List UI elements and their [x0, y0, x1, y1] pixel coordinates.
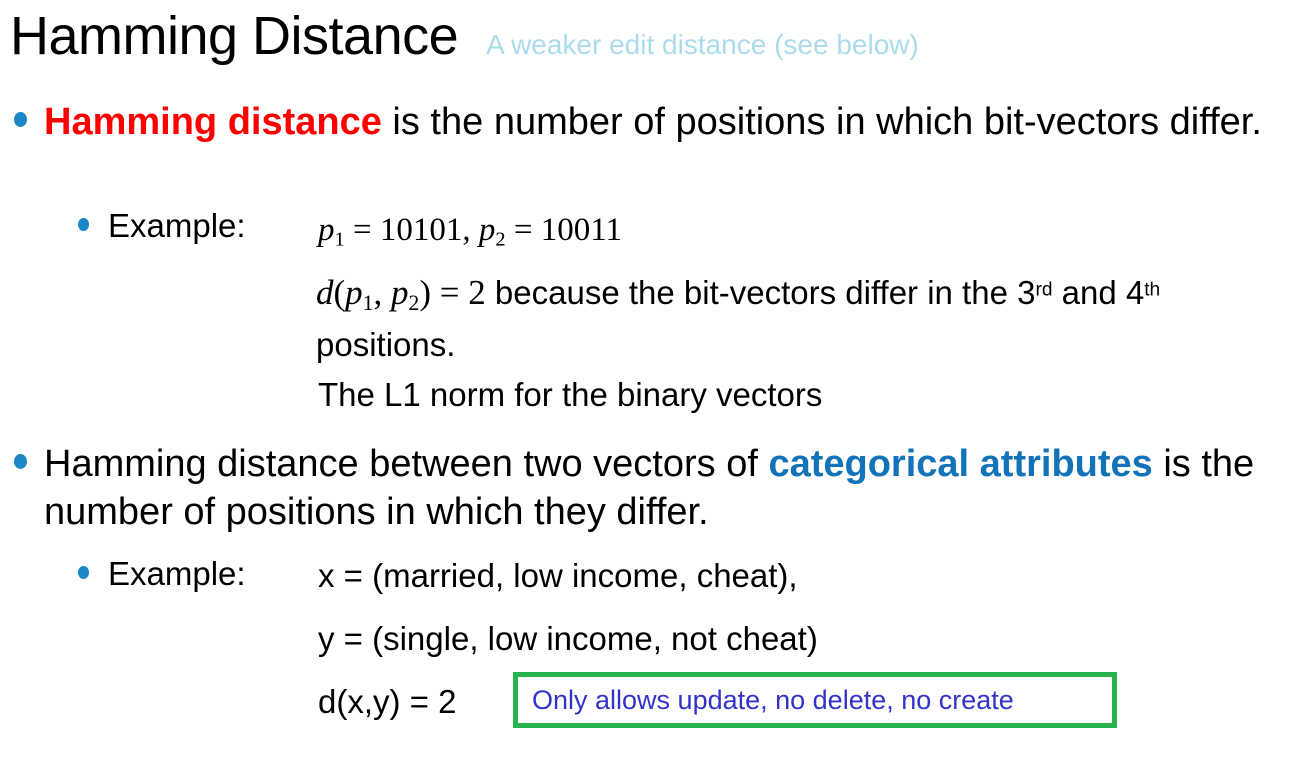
because-text-part-3: positions.: [316, 326, 455, 363]
subscript-2: 2: [495, 229, 505, 251]
sub-bullet-dot-icon: [78, 566, 89, 579]
bullet-text-prefix: Hamming distance between two vectors of: [44, 443, 768, 485]
distance-value: 2: [468, 273, 486, 312]
variable-p1: p: [318, 212, 335, 248]
bullet-text: Hamming distance between two vectors of …: [44, 440, 1264, 536]
example-1-equation: p1 = 10101, p2 = 10011: [318, 209, 622, 261]
bullet-dot-icon: [14, 454, 27, 469]
arg-p2-subscript: 2: [409, 291, 420, 315]
bullet-text-rest: is the number of positions in which bit-…: [382, 101, 1262, 143]
paren-close: ): [419, 273, 431, 312]
equals-2: =: [506, 212, 541, 248]
sub-bullet-dot-icon: [78, 218, 89, 231]
value-p2: 10011: [541, 212, 622, 248]
example-1-label: Example:: [108, 205, 246, 247]
bullet-item-hamming-definition: Hamming distance is the number of positi…: [14, 98, 1304, 146]
function-d: d: [316, 273, 334, 312]
because-text-part-1: because the bit-vectors differ in the 3: [486, 274, 1036, 311]
page-title: Hamming Distance: [10, 6, 458, 66]
paren-open: (: [334, 273, 346, 312]
slide-header: Hamming Distance A weaker edit distance …: [10, 6, 1306, 66]
arg-separator: ,: [374, 273, 392, 312]
equals-1: =: [345, 212, 380, 248]
arg-p1-subscript: 1: [363, 291, 374, 315]
bullet-text: Hamming distance is the number of positi…: [44, 98, 1262, 146]
callout-text: Only allows update, no delete, no create: [518, 685, 1014, 715]
ordinal-suffix-rd: rd: [1035, 279, 1052, 300]
bullet-dot-icon: [14, 112, 27, 127]
callout-box: Only allows update, no delete, no create: [513, 672, 1117, 728]
emphasis-categorical-attributes: categorical attributes: [768, 443, 1152, 485]
ordinal-suffix-th: th: [1144, 279, 1160, 300]
example-2-y-vector: y = (single, low income, not cheat): [318, 618, 818, 660]
comma-separator: ,: [462, 212, 479, 248]
variable-p2: p: [479, 212, 496, 248]
bullet-item-categorical-definition: Hamming distance between two vectors of …: [14, 440, 1264, 536]
subscript-1: 1: [335, 229, 345, 251]
example-2-distance-result: d(x,y) = 2: [318, 681, 456, 723]
l1-norm-note: The L1 norm for the binary vectors: [318, 374, 822, 416]
sub-bullet-example-2: Example:: [78, 553, 246, 595]
because-text-part-2: and 4: [1052, 274, 1144, 311]
arg-p2: p: [391, 273, 409, 312]
example-2-x-vector: x = (married, low income, cheat),: [318, 555, 798, 597]
emphasis-hamming-distance: Hamming distance: [44, 101, 382, 143]
value-p1: 10101: [380, 212, 463, 248]
example-2-label: Example:: [108, 553, 246, 595]
example-1-distance-explanation: d(p1, p2) = 2 because the bit-vectors di…: [316, 272, 1304, 366]
distance-equals: =: [431, 273, 468, 312]
arg-p1: p: [345, 273, 363, 312]
slide-subtitle: A weaker edit distance (see below): [486, 29, 919, 61]
sub-bullet-example-1: Example:: [78, 205, 246, 247]
